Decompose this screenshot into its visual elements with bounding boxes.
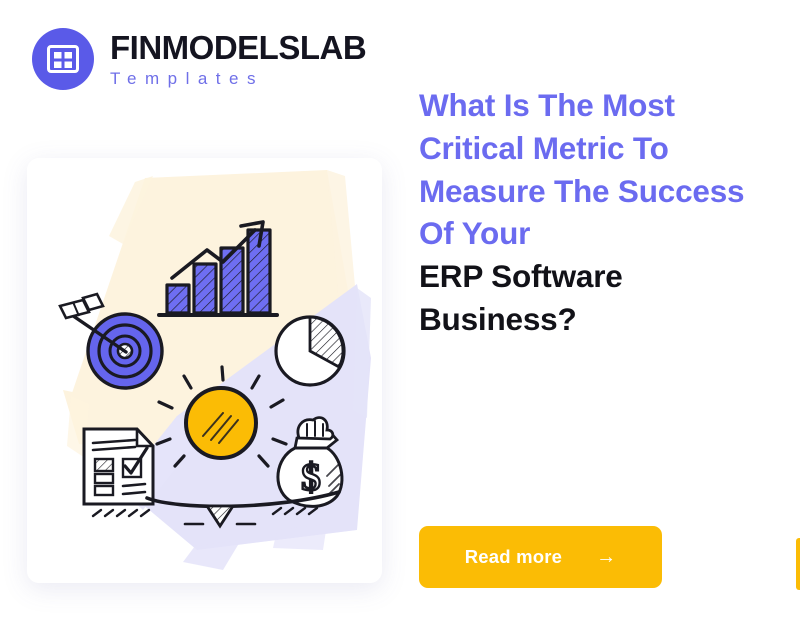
brand-logo-text: FINMODELSLAB Templates [110, 31, 366, 88]
edge-accent-sliver [796, 538, 800, 590]
promo-banner: FINMODELSLAB Templates [0, 0, 800, 618]
checklist-document-icon [84, 429, 153, 504]
brand-tagline: Templates [110, 70, 366, 87]
business-metrics-illustration: $ [27, 158, 382, 583]
brand-wordmark: FINMODELSLAB [110, 31, 366, 66]
headline-block: What Is The Most Critical Metric To Meas… [419, 84, 769, 341]
brand-logo[interactable]: FINMODELSLAB Templates [32, 28, 366, 90]
read-more-label: Read more [465, 546, 562, 568]
headline-main: ERP Software Business? [419, 255, 769, 341]
pie-chart-icon [276, 317, 344, 385]
read-more-button[interactable]: Read more → [419, 526, 662, 588]
illustration-card: $ [27, 158, 382, 583]
grid-squares-icon [32, 28, 94, 90]
headline-accent: What Is The Most Critical Metric To Meas… [419, 84, 769, 255]
arrow-right-icon: → [596, 547, 616, 567]
svg-text:$: $ [301, 456, 321, 499]
